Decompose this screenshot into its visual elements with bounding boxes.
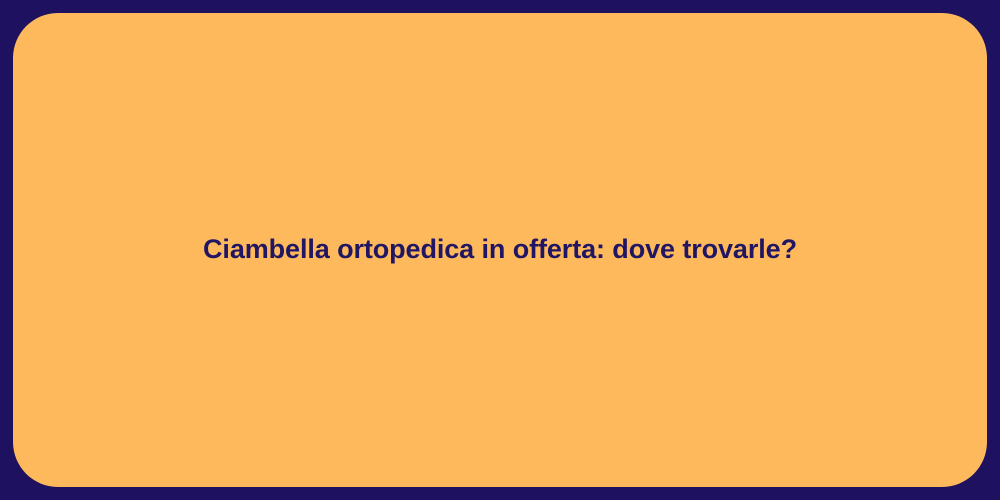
page-background: Ciambella ortopedica in offerta: dove tr… (0, 0, 1000, 500)
page-title: Ciambella ortopedica in offerta: dove tr… (163, 233, 837, 267)
content-card: Ciambella ortopedica in offerta: dove tr… (13, 13, 987, 487)
